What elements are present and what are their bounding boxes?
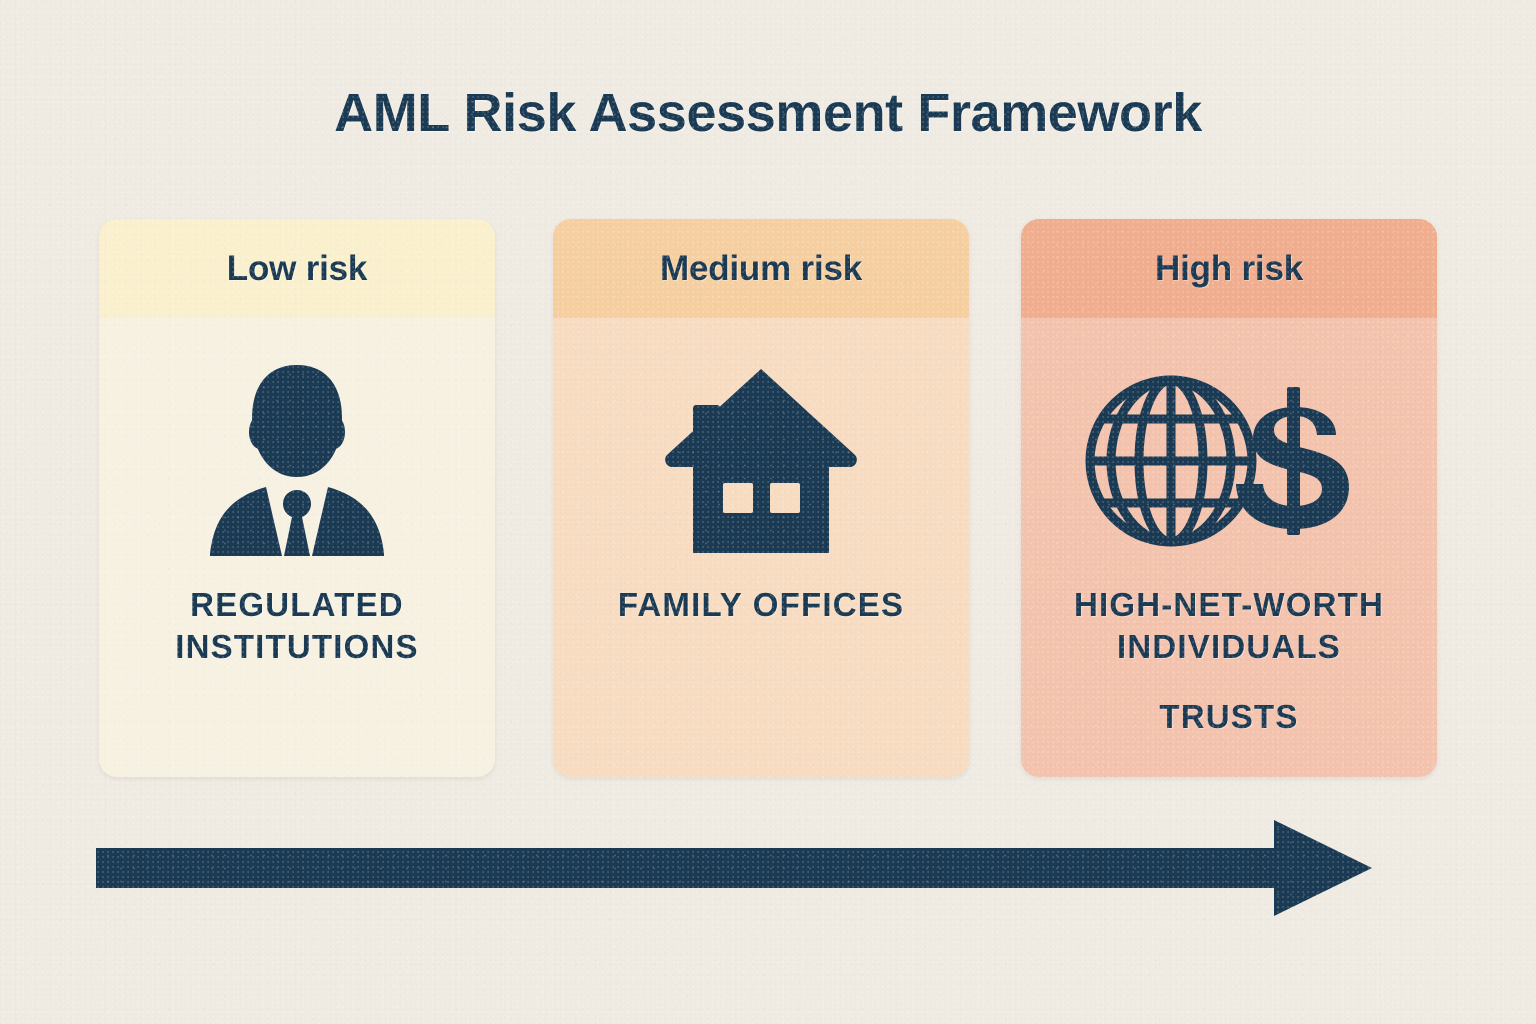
risk-card-medium[interactable]: Medium risk (553, 219, 969, 777)
risk-card-medium-tier-label: Medium risk (660, 249, 862, 289)
risk-card-high[interactable]: High risk (1021, 219, 1437, 777)
risk-card-high-labels: HIGH-NET-WORTH INDIVIDUALS TRUSTS (1021, 584, 1437, 739)
risk-card-high-body: HIGH-NET-WORTH INDIVIDUALS TRUSTS (1021, 318, 1437, 777)
house-icon (663, 360, 859, 560)
risk-card-medium-header: Medium risk (553, 219, 969, 318)
risk-card-high-label-0: HIGH-NET-WORTH INDIVIDUALS (1021, 584, 1437, 668)
risk-card-low-label-0: REGULATED INSTITUTIONS (99, 584, 495, 668)
risk-card-low-body: REGULATED INSTITUTIONS (99, 318, 495, 777)
risk-card-medium-body: FAMILY OFFICES (553, 318, 969, 777)
risk-card-low-header: Low risk (99, 219, 495, 318)
risk-card-medium-label-0: FAMILY OFFICES (608, 584, 914, 626)
risk-card-high-label-1: TRUSTS (1149, 696, 1308, 738)
risk-card-low[interactable]: Low risk (99, 219, 495, 777)
risk-card-high-tier-label: High risk (1155, 249, 1303, 289)
globe-dollar-icon (1084, 360, 1374, 560)
risk-card-high-header: High risk (1021, 219, 1437, 318)
risk-card-low-tier-label: Low risk (227, 249, 367, 289)
businessman-icon (204, 360, 390, 560)
page-title: AML Risk Assessment Framework (0, 82, 1536, 144)
risk-card-low-labels: REGULATED INSTITUTIONS (99, 584, 495, 668)
risk-card-medium-labels: FAMILY OFFICES (553, 584, 969, 626)
risk-tier-cards: Low risk (0, 219, 1536, 779)
risk-gradient-arrow (96, 818, 1372, 918)
